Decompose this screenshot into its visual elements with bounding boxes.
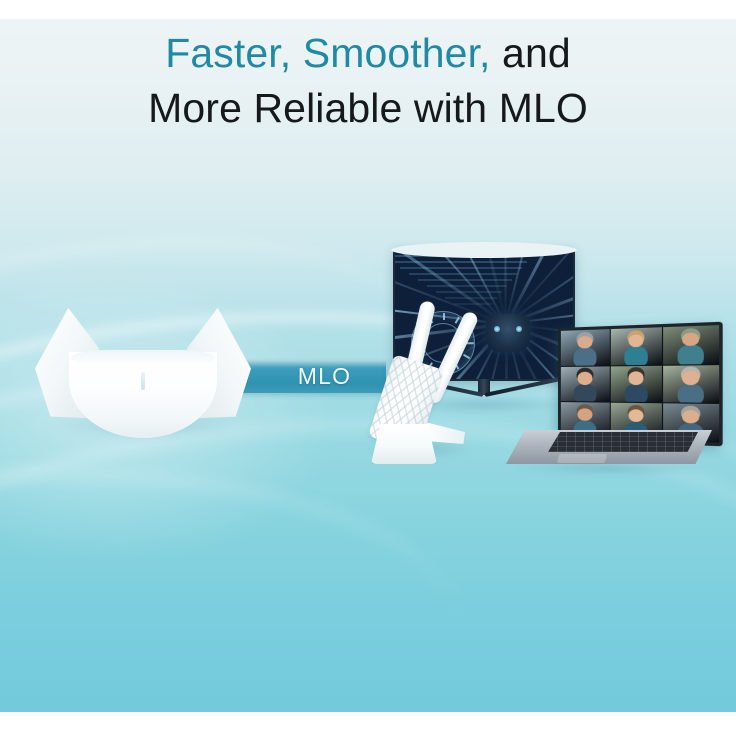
- participant-head: [578, 372, 593, 385]
- extender-base: [371, 424, 437, 464]
- headline-accent-text: Faster, Smoother,: [165, 30, 490, 76]
- video-call-tile[interactable]: [663, 325, 719, 364]
- participant-body: [624, 346, 648, 365]
- video-call-tile[interactable]: [561, 329, 610, 365]
- router-led-indicator: [141, 372, 145, 390]
- laptop-lid: [558, 322, 723, 447]
- marketing-banner: Faster, Smoother, and More Reliable with…: [0, 0, 736, 736]
- mlo-label: MLO: [237, 360, 386, 393]
- monitor-grid-line: [400, 267, 522, 269]
- video-call-tile[interactable]: [561, 366, 610, 402]
- participant-body: [624, 384, 648, 403]
- mlo-connector-bar: MLO: [237, 360, 386, 393]
- monitor-grid-line: [418, 279, 512, 281]
- monitor-grid-line: [409, 273, 517, 275]
- participant-head: [682, 371, 699, 385]
- laptop-trackpad: [557, 454, 608, 463]
- headline: Faster, Smoother, and More Reliable with…: [0, 26, 736, 136]
- wifi-extender-device: [367, 300, 463, 470]
- video-call-grid: [561, 325, 719, 443]
- laptop-device: [506, 328, 712, 474]
- ship-light: [494, 326, 500, 332]
- bottom-white-frame: [0, 712, 736, 736]
- participant-head: [628, 334, 644, 348]
- participant-head: [578, 335, 593, 348]
- headline-line-1: Faster, Smoother, and: [0, 26, 736, 81]
- monitor-curve-top: [391, 242, 577, 258]
- router-device: [33, 308, 253, 434]
- participant-head: [682, 410, 699, 424]
- video-call-tile[interactable]: [610, 327, 662, 365]
- participant-body: [678, 345, 704, 365]
- top-white-frame: [0, 0, 736, 19]
- monitor-grid-line: [427, 285, 507, 287]
- video-call-tile[interactable]: [610, 365, 662, 402]
- participant-head: [628, 372, 644, 385]
- participant-body: [574, 347, 596, 365]
- participant-head: [578, 408, 593, 421]
- headline-rest-text: and: [491, 30, 571, 76]
- participant-body: [574, 384, 596, 402]
- headline-line-2: More Reliable with MLO: [0, 81, 736, 136]
- video-call-tile[interactable]: [663, 365, 719, 403]
- participant-head: [628, 409, 644, 422]
- monitor-grid-line: [445, 297, 497, 299]
- monitor-grid-line: [393, 261, 527, 263]
- monitor-hud-tick: [467, 342, 474, 344]
- laptop-keyboard: [548, 432, 698, 452]
- participant-head: [682, 332, 699, 346]
- participant-body: [678, 384, 704, 403]
- monitor-grid-line: [436, 291, 502, 293]
- monitor-hud-tick: [463, 354, 470, 359]
- router-top-lip: [71, 350, 215, 366]
